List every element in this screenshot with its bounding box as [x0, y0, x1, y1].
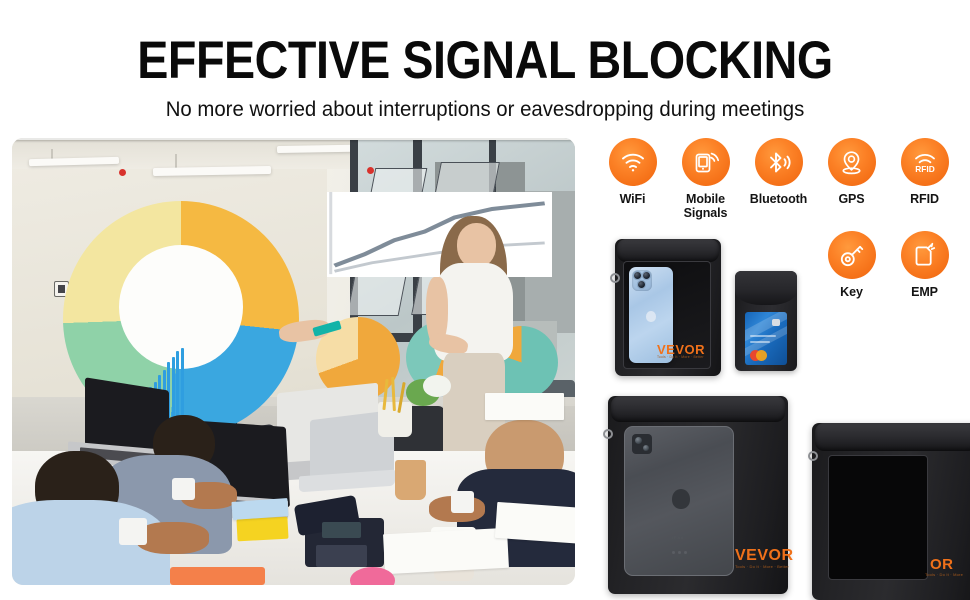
- credit-card-render: [745, 312, 787, 365]
- brand-logo: VEVOR: [735, 548, 794, 564]
- feature-row-1: WiFi Mobile Signals: [596, 138, 964, 220]
- feature-wifi[interactable]: WiFi: [596, 138, 669, 220]
- page-title: EFFECTIVE SIGNAL BLOCKING: [58, 33, 912, 89]
- feature-label: WiFi: [596, 193, 669, 207]
- feature-label: GPS: [815, 193, 888, 207]
- brand-tagline: Tools · Do It · More: [925, 572, 963, 577]
- feature-mobile-signals[interactable]: Mobile Signals: [669, 138, 742, 220]
- feature-label: Bluetooth: [742, 193, 815, 207]
- key-icon: [828, 231, 876, 279]
- tablet-render: iPad: [624, 426, 734, 576]
- gps-icon: [828, 138, 876, 186]
- brand-tagline: Tools · Do It · More · Better: [657, 355, 704, 359]
- product-card-faraday-pouch: [735, 271, 797, 371]
- wifi-icon: [609, 138, 657, 186]
- mobile-signals-icon: [682, 138, 730, 186]
- feature-label: RFID: [888, 193, 961, 207]
- feature-label: Key: [815, 286, 888, 300]
- product-large-faraday-bag: OR Tools · Do It · More: [812, 423, 970, 600]
- brand-tagline: Tools · Do It · More · Better: [735, 564, 789, 569]
- feature-label: EMP: [888, 286, 961, 300]
- brand-logo: OR: [930, 557, 954, 572]
- rfid-icon: RFID: [901, 138, 949, 186]
- product-feature-banner: EFFECTIVE SIGNAL BLOCKING No more worrie…: [0, 0, 970, 600]
- feature-label: Mobile Signals: [669, 193, 742, 220]
- emp-icon: [901, 231, 949, 279]
- product-phone-faraday-bag: VEVOR Tools · Do It · More · Better: [615, 239, 721, 376]
- feature-gps[interactable]: GPS: [815, 138, 888, 220]
- feature-row-2: Key EMP: [815, 231, 964, 300]
- product-tablet-faraday-bag: iPad VEVOR Tools · Do It · More · Better: [608, 396, 788, 594]
- page-subtitle: No more worried about interruptions or e…: [15, 96, 956, 124]
- feature-emp[interactable]: EMP: [888, 231, 961, 300]
- rfid-glyph-text: RFID: [915, 164, 935, 174]
- feature-key[interactable]: Key: [815, 231, 888, 300]
- lifestyle-photo: [12, 138, 575, 585]
- bluetooth-icon: [755, 138, 803, 186]
- feature-bluetooth[interactable]: Bluetooth: [742, 138, 815, 220]
- feature-rfid[interactable]: RFID RFID: [888, 138, 961, 220]
